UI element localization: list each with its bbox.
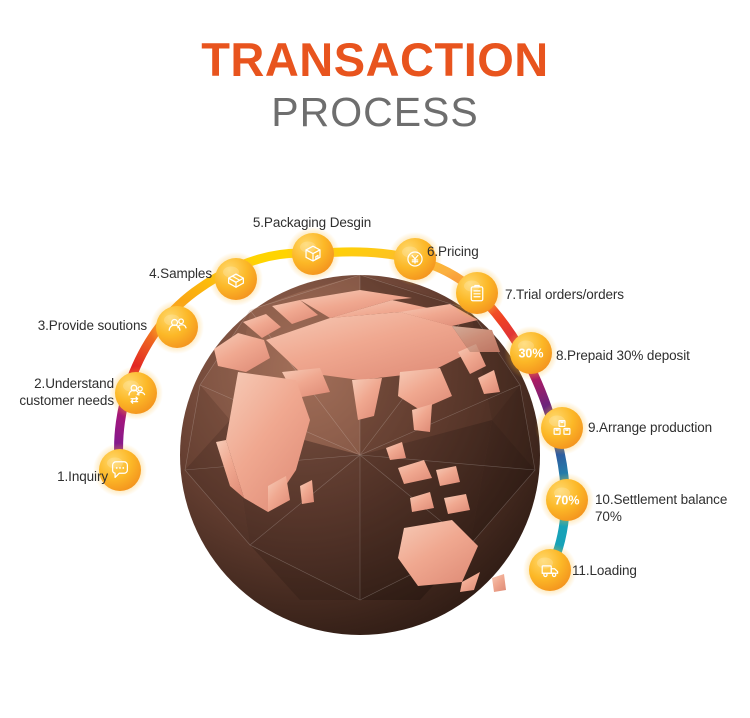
process-node-5[interactable] <box>286 227 340 281</box>
step-label-10: 10.Settlement balance 70% <box>595 491 750 526</box>
infographic-canvas: TRANSACTION PROCESS <box>0 0 750 718</box>
step-label-5: 5.Packaging Desgin <box>247 214 377 231</box>
node-circle <box>541 407 583 449</box>
node-gloss <box>107 458 123 469</box>
step-label-1: 1.Inquiry <box>34 468 108 485</box>
node-badge-text: 70% <box>554 494 579 508</box>
node-circle <box>115 372 157 414</box>
process-node-9[interactable] <box>535 401 589 455</box>
process-node-8[interactable]: 30% <box>504 326 558 380</box>
step-label-11: 11.Loading <box>572 562 652 579</box>
globe-graphic <box>180 275 540 635</box>
process-node-2[interactable] <box>109 366 163 420</box>
node-circle <box>456 272 498 314</box>
process-node-11[interactable] <box>523 543 577 597</box>
node-badge-text: 30% <box>518 347 543 361</box>
node-circle <box>529 549 571 591</box>
process-node-10[interactable]: 70% <box>540 473 594 527</box>
node-circle <box>156 306 198 348</box>
process-diagram: 30%70% 1.Inquiry2.Understand customer ne… <box>0 0 750 718</box>
process-node-3[interactable] <box>150 300 204 354</box>
node-circle <box>215 258 257 300</box>
step-label-4: 4.Samples <box>142 265 212 282</box>
node-gloss <box>537 558 553 569</box>
step-label-7: 7.Trial orders/orders <box>505 286 640 303</box>
step-label-6: 6.Pricing <box>427 243 497 260</box>
step-label-8: 8.Prepaid 30% deposit <box>556 347 706 364</box>
process-node-7[interactable] <box>450 266 504 320</box>
process-node-4[interactable] <box>209 252 263 306</box>
step-label-2: 2.Understand customer needs <box>14 375 114 410</box>
node-gloss <box>223 267 239 278</box>
step-label-9: 9.Arrange production <box>588 419 733 436</box>
step-label-3: 3.Provide soutions <box>32 317 147 334</box>
